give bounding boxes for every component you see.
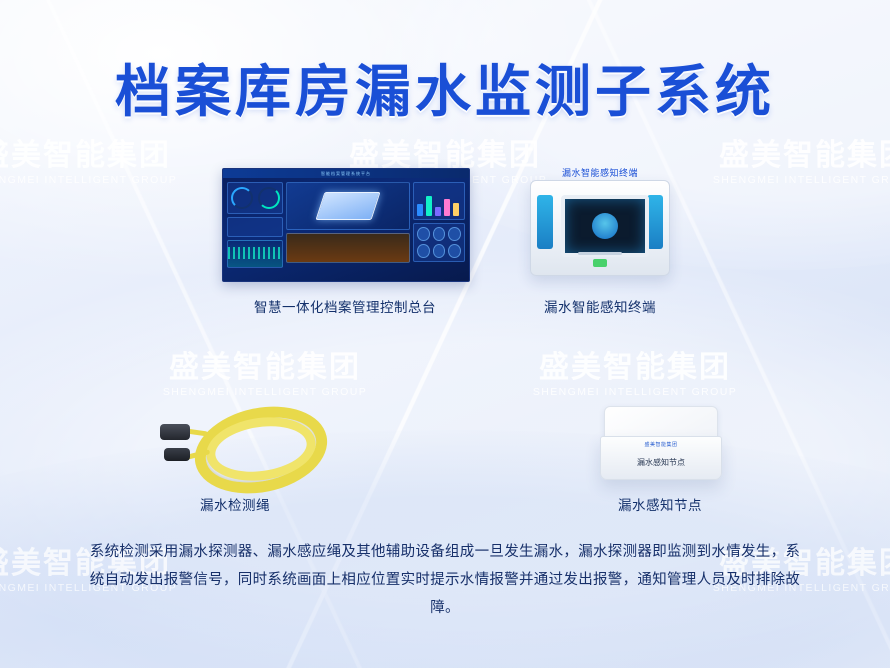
console-right-column	[413, 182, 465, 277]
terminal-side-panel	[537, 195, 553, 249]
terminal-side-panel	[647, 195, 663, 249]
leak-detection-rope-image	[160, 408, 310, 480]
caption-rope: 漏水检测绳	[155, 494, 315, 514]
bar	[444, 199, 450, 216]
terminal-slot	[578, 252, 622, 255]
watermark: 盛美智能集团 SHENGMEI INTELLIGENT GROUP	[0, 140, 190, 186]
waveform-widget	[227, 240, 283, 268]
console-left-column	[227, 182, 283, 277]
panel-icon	[417, 244, 430, 258]
console-dashboard-image: 智能档案管理系统平台	[222, 168, 470, 282]
bar	[453, 203, 459, 216]
panel-icon	[448, 227, 461, 241]
water-drop-icon	[592, 213, 618, 239]
terminal-device-image: 漏水智能感知终端	[530, 180, 670, 276]
stat-widget	[227, 217, 283, 237]
room-model-icon	[315, 192, 380, 220]
watermark: 盛美智能集团 SHENGMEI INTELLIGENT GROUP	[150, 352, 380, 398]
terminal-device-title: 漏水智能感知终端	[530, 166, 670, 179]
photo-widget	[286, 233, 410, 263]
gauge-icon	[231, 187, 253, 209]
gauge-widget	[227, 182, 283, 214]
rope-connector	[164, 448, 190, 461]
watermark: 盛美智能集团 SHENGMEI INTELLIGENT GROUP	[520, 352, 750, 398]
rope-connector	[160, 424, 190, 440]
leak-sensing-node-image: 盛美智能集团 漏水感知节点	[600, 406, 720, 480]
panel-icon	[433, 227, 446, 241]
page-title: 档案库房漏水监测子系统	[0, 47, 890, 128]
console-screen-title: 智能档案管理系统平台	[223, 169, 469, 178]
icon-panel-widget	[413, 223, 465, 262]
watermark: 盛美智能集团 SHENGMEI INTELLIGENT GROUP	[700, 140, 890, 186]
console-layout	[223, 178, 469, 281]
node-label-text: 漏水感知节点	[637, 457, 685, 468]
node-brand-text: 盛美智能集团	[644, 441, 677, 448]
status-led-icon	[593, 259, 607, 267]
room-3d-widget	[286, 182, 410, 230]
console-center-column	[286, 182, 410, 277]
bar-chart-widget	[413, 182, 465, 220]
bar	[417, 204, 423, 216]
panel-icon	[433, 244, 446, 258]
bar	[435, 207, 441, 216]
poster-page: 盛美智能集团 SHENGMEI INTELLIGENT GROUP 盛美智能集团…	[0, 0, 890, 668]
terminal-screen	[561, 195, 649, 257]
caption-terminal: 漏水智能感知终端	[510, 296, 690, 316]
node-face: 盛美智能集团 漏水感知节点	[600, 436, 722, 480]
description-paragraph: 系统检测采用漏水探测器、漏水感应绳及其他辅助设备组成一旦发生漏水，漏水探测器即监…	[86, 538, 804, 622]
bar	[426, 196, 432, 216]
gauge-icon	[258, 187, 280, 209]
panel-icon	[417, 227, 430, 241]
caption-console: 智慧一体化档案管理控制总台	[150, 296, 540, 316]
caption-node: 漏水感知节点	[580, 494, 740, 514]
terminal-body	[530, 180, 670, 276]
panel-icon	[448, 244, 461, 258]
